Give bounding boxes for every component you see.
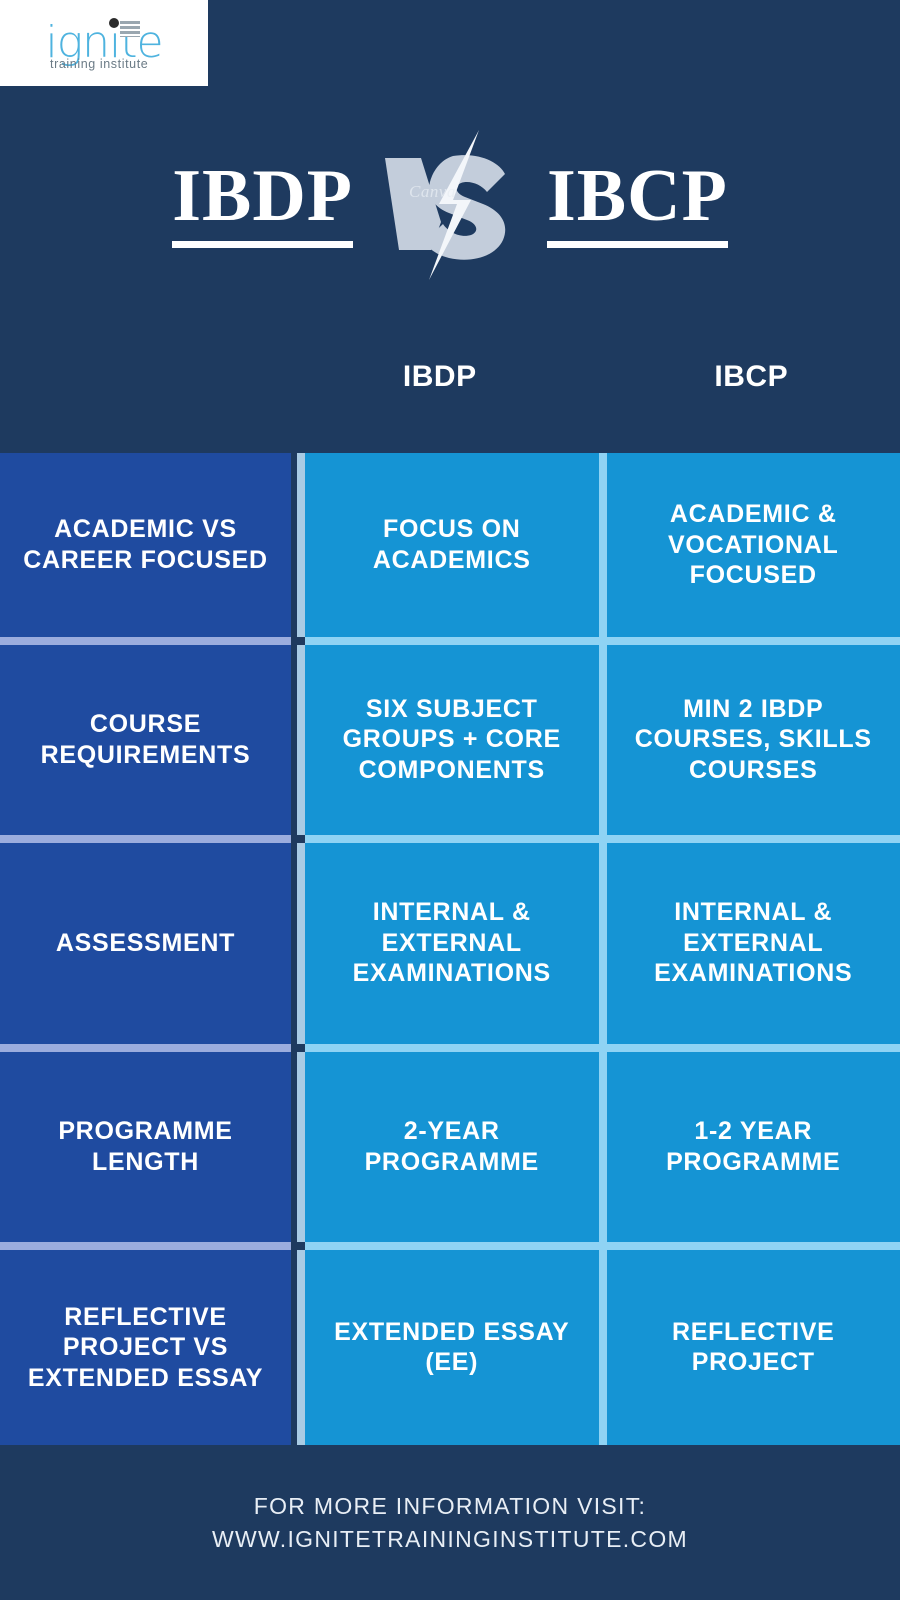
table-row: REFLECTIVE PROJECT VS EXTENDED ESSAY EXT… bbox=[0, 1250, 900, 1445]
row-value-ibcp: MIN 2 IBDP COURSES, SKILLS COURSES bbox=[607, 645, 900, 835]
row-divider bbox=[0, 1242, 900, 1250]
column-divider bbox=[599, 1250, 607, 1445]
table-row: ACADEMIC VS CAREER FOCUSED FOCUS ON ACAD… bbox=[0, 453, 900, 637]
table-row: COURSE REQUIREMENTS SIX SUBJECT GROUPS +… bbox=[0, 645, 900, 835]
versus-title-row: IBDP Canva IBCP bbox=[0, 140, 900, 270]
column-divider bbox=[291, 1052, 305, 1242]
logo-tagline: training institute bbox=[50, 57, 192, 71]
row-value-ibcp: ACADEMIC & VOCATIONAL FOCUSED bbox=[607, 453, 900, 637]
column-divider bbox=[599, 453, 607, 637]
row-label: PROGRAMME LENGTH bbox=[0, 1052, 291, 1242]
row-value-ibcp: INTERNAL & EXTERNAL EXAMINATIONS bbox=[607, 843, 900, 1044]
row-divider bbox=[0, 1044, 900, 1052]
row-value-ibcp: REFLECTIVE PROJECT bbox=[607, 1250, 900, 1445]
row-label: ACADEMIC VS CAREER FOCUSED bbox=[0, 453, 291, 637]
column-header-gap bbox=[589, 360, 603, 394]
logo-dot-icon bbox=[109, 18, 119, 28]
column-divider bbox=[291, 843, 305, 1044]
logo-mark: ignite training institute bbox=[16, 17, 192, 69]
column-header-ibdp: IBDP bbox=[291, 360, 589, 394]
column-divider bbox=[291, 453, 305, 637]
infographic-poster: ignite training institute IBDP Canva IBC… bbox=[0, 0, 900, 1600]
row-label: ASSESSMENT bbox=[0, 843, 291, 1044]
table-row: PROGRAMME LENGTH 2-YEAR PROGRAMME 1-2 YE… bbox=[0, 1052, 900, 1242]
table-row: ASSESSMENT INTERNAL & EXTERNAL EXAMINATI… bbox=[0, 843, 900, 1044]
footer: FOR MORE INFORMATION VISIT: WWW.IGNITETR… bbox=[0, 1445, 900, 1600]
column-headers: IBDP IBCP bbox=[0, 360, 900, 394]
column-divider bbox=[291, 1250, 305, 1445]
row-value-ibdp: EXTENDED ESSAY (EE) bbox=[305, 1250, 599, 1445]
column-divider bbox=[291, 645, 305, 835]
row-value-ibdp: FOCUS ON ACADEMICS bbox=[305, 453, 599, 637]
column-divider bbox=[599, 843, 607, 1044]
footer-cta-text: FOR MORE INFORMATION VISIT: bbox=[254, 1493, 646, 1520]
column-divider bbox=[599, 645, 607, 835]
row-label: COURSE REQUIREMENTS bbox=[0, 645, 291, 835]
row-divider bbox=[0, 637, 900, 645]
row-value-ibcp: 1-2 YEAR PROGRAMME bbox=[607, 1052, 900, 1242]
title-right-ibcp: IBCP bbox=[547, 159, 728, 248]
row-value-ibdp: 2-YEAR PROGRAMME bbox=[305, 1052, 599, 1242]
comparison-table: ACADEMIC VS CAREER FOCUSED FOCUS ON ACAD… bbox=[0, 453, 900, 1445]
title-left-ibdp: IBDP bbox=[172, 159, 353, 248]
column-header-ibcp: IBCP bbox=[603, 360, 900, 394]
row-divider bbox=[0, 835, 900, 843]
brand-logo: ignite training institute bbox=[0, 0, 208, 86]
column-header-spacer bbox=[0, 360, 291, 394]
versus-badge-icon: Canva bbox=[375, 130, 525, 280]
column-divider bbox=[599, 1052, 607, 1242]
logo-flag-icon bbox=[120, 21, 140, 37]
row-value-ibdp: SIX SUBJECT GROUPS + CORE COMPONENTS bbox=[305, 645, 599, 835]
row-value-ibdp: INTERNAL & EXTERNAL EXAMINATIONS bbox=[305, 843, 599, 1044]
footer-website-url[interactable]: WWW.IGNITETRAININGINSTITUTE.COM bbox=[212, 1526, 688, 1553]
row-label: REFLECTIVE PROJECT VS EXTENDED ESSAY bbox=[0, 1250, 291, 1445]
